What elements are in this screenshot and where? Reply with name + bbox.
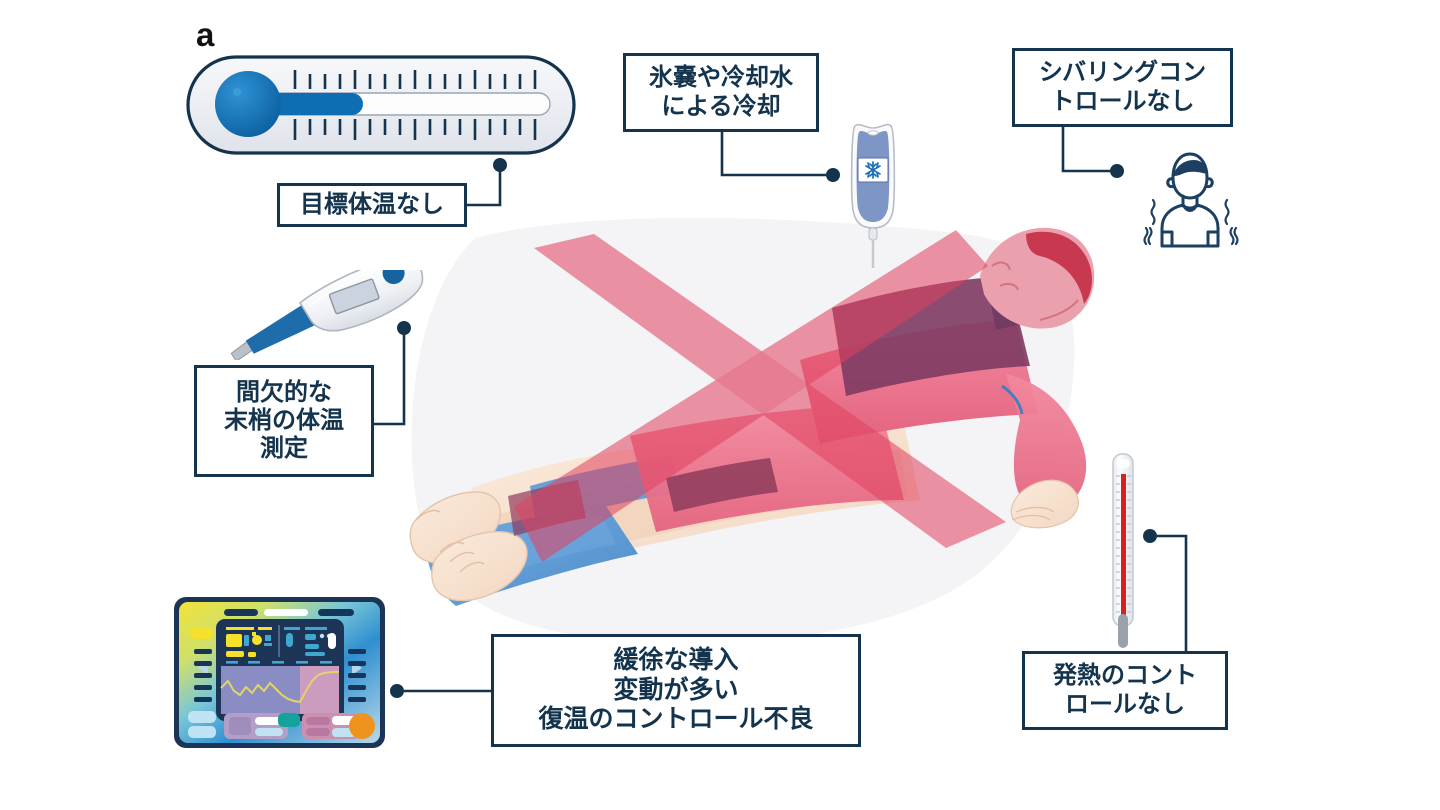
callout-ice-pack-cooling[interactable]: 氷嚢や冷却水 による冷却 (623, 53, 819, 132)
callout-slow-induction-variability[interactable]: 緩徐な導入 変動が多い 復温のコントロール不良 (491, 634, 861, 747)
callout-line: 復温のコントロール不良 (538, 705, 813, 735)
callout-line: 目標体温なし (300, 191, 444, 219)
callout-no-fever-control[interactable]: 発熱のコント ロールなし (1022, 651, 1228, 730)
callout-line: 間欠的な (236, 379, 332, 407)
callout-line: トロールなし (1051, 88, 1195, 116)
horizontal-thermometer-icon (185, 52, 577, 158)
callout-line: 発熱のコント (1053, 662, 1197, 690)
leader-no-shivering-control (1053, 123, 1133, 185)
callout-line: シバリングコン (1039, 59, 1206, 87)
figure-panel-a: a (0, 0, 1440, 810)
leader-ice-pack-cooling (712, 128, 847, 188)
shivering-person-icon (1140, 148, 1240, 252)
callout-no-shivering-control[interactable]: シバリングコン トロールなし (1012, 48, 1233, 127)
callout-no-target-temperature[interactable]: 目標体温なし (277, 183, 467, 227)
leader-no-target-temperature (460, 155, 520, 215)
leader-intermittent-peripheral-measurement (366, 318, 421, 438)
callout-intermittent-peripheral-measurement[interactable]: 間欠的な 末梢の体温 測定 (194, 365, 374, 477)
clinical-thermometer-icon (1105, 452, 1141, 650)
callout-line: 変動が多い (613, 676, 738, 706)
callout-line: による冷却 (661, 93, 780, 121)
callout-line: ロールなし (1065, 691, 1185, 719)
panel-letter: a (196, 18, 214, 51)
callout-line: 測定 (260, 435, 308, 463)
callout-line: 緩徐な導入 (613, 646, 738, 676)
leader-slow-induction-variability (386, 681, 501, 703)
patient-monitor-icon (172, 595, 387, 750)
callout-line: 末梢の体温 (224, 407, 344, 435)
leader-no-fever-control (1140, 526, 1200, 656)
callout-line: 氷嚢や冷却水 (649, 64, 793, 92)
red-cross-out-overlay (490, 230, 1030, 580)
